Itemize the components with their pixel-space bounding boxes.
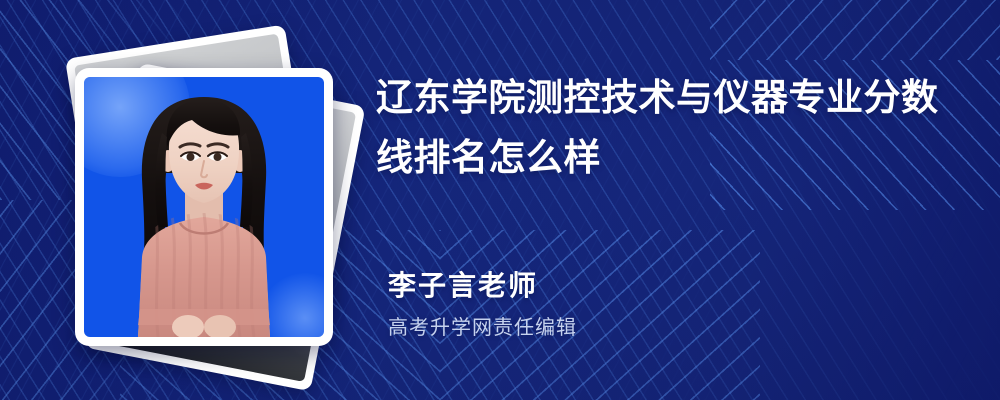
dress-waistband (138, 309, 270, 325)
article-header-banner: 辽东学院测控技术与仪器专业分数线排名怎么样 李子言老师 高考升学网责任编辑 (0, 0, 1000, 400)
iris-right (214, 153, 222, 161)
author-role: 高考升学网责任编辑 (388, 315, 908, 341)
author-block: 李子言老师 高考升学网责任编辑 (388, 268, 908, 341)
portrait-illustration (84, 77, 324, 337)
author-name: 李子言老师 (388, 268, 908, 303)
author-photo (84, 77, 324, 337)
photo-card-stack (70, 40, 360, 360)
headline-block: 辽东学院测控技术与仪器专业分数线排名怎么样 (376, 68, 966, 188)
photo-card-front (75, 68, 333, 346)
iris-left (187, 153, 195, 161)
page-title: 辽东学院测控技术与仪器专业分数线排名怎么样 (376, 68, 966, 188)
